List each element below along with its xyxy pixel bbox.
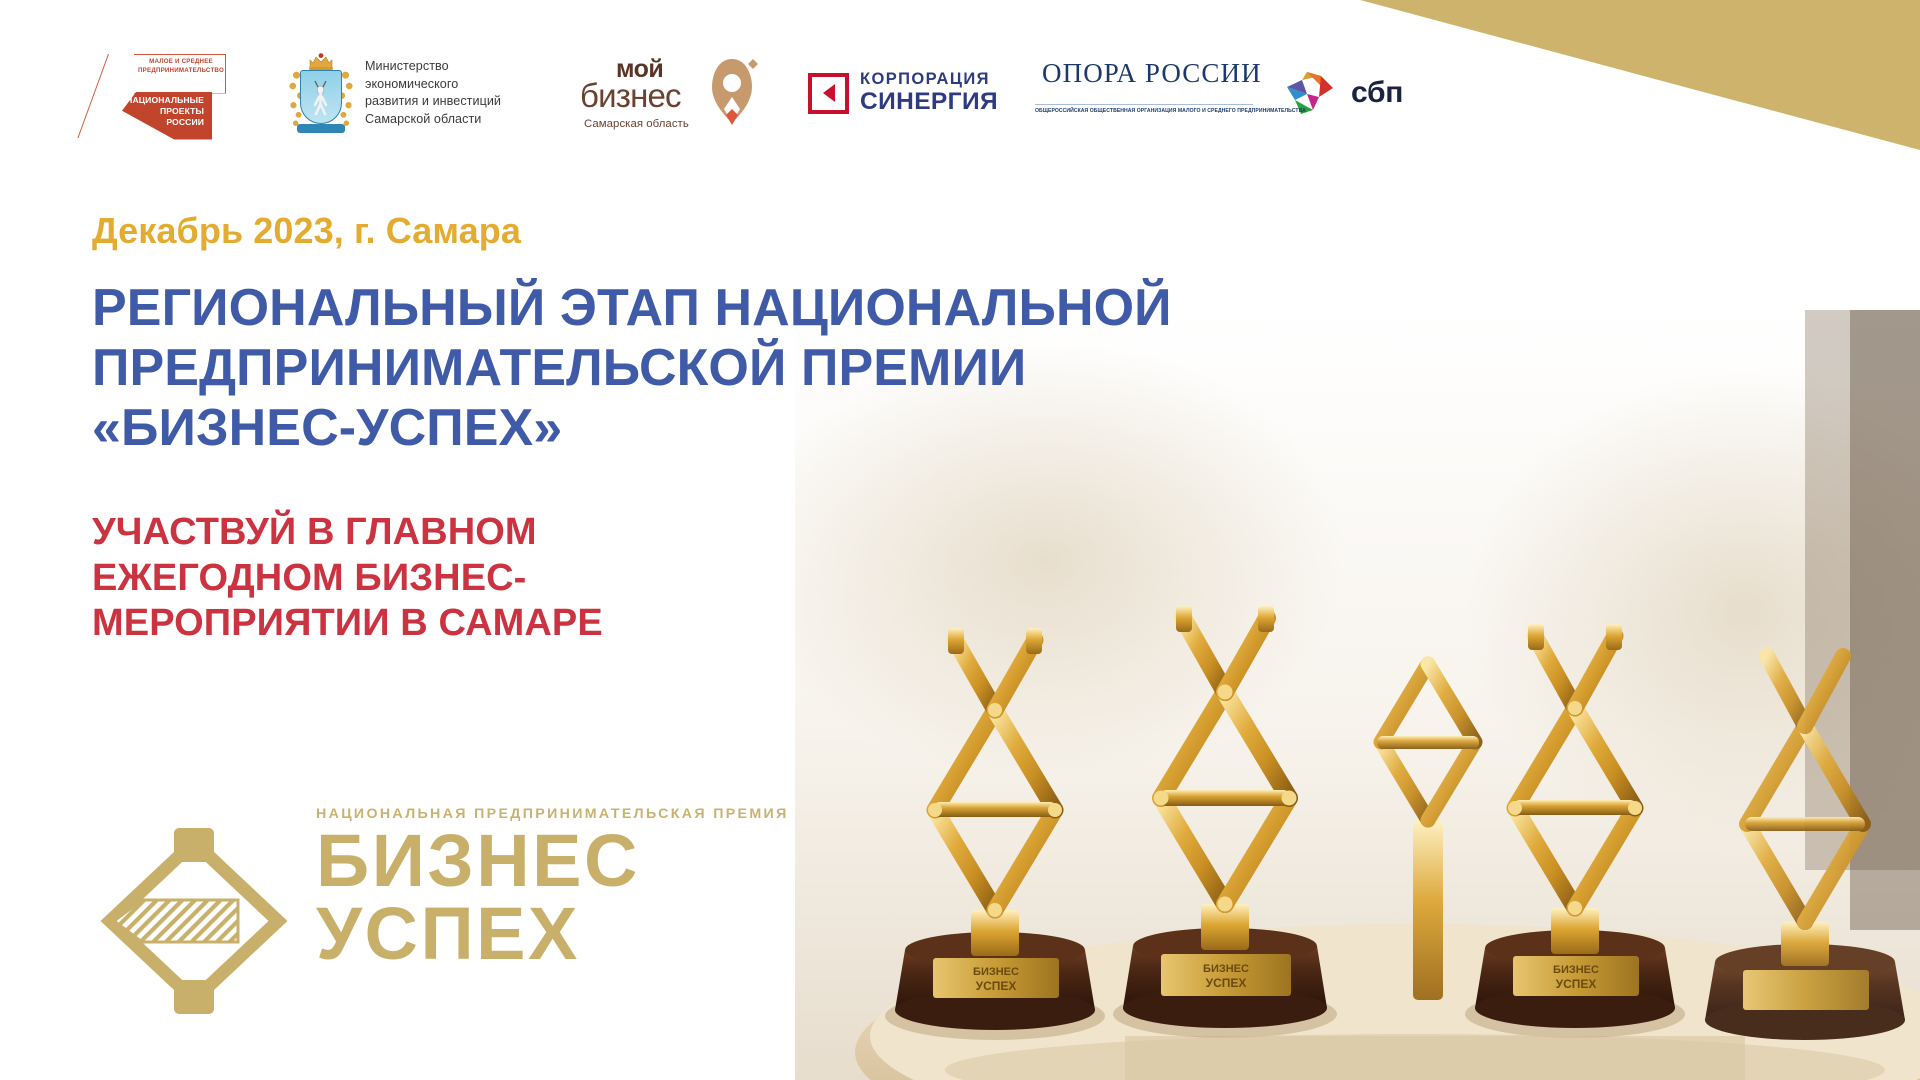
svg-text:УСПЕХ: УСПЕХ: [976, 979, 1017, 993]
logo-korporaciya-sinergiya: КОРПОРАЦИЯ СИНЕРГИЯ: [808, 43, 1033, 143]
logo-moy-biznes: мой бизнес Самарская область: [578, 43, 808, 143]
event-date-location: Декабрь 2023, г. Самара: [92, 210, 1322, 252]
moy-biznes-region: Самарская область: [584, 118, 689, 130]
ministry-label: Министерство экономического развития и и…: [365, 58, 501, 128]
svg-text:БИЗНЕС: БИЗНЕС: [973, 966, 1019, 978]
headline-line-1: РЕГИОНАЛЬНЫЙ ЭТАП НАЦИОНАЛЬНОЙ: [92, 278, 1322, 338]
event-subheading: УЧАСТВУЙ В ГЛАВНОМ ЕЖЕГОДНОМ БИЗНЕС- МЕР…: [92, 510, 1322, 647]
shield: [300, 70, 342, 124]
moy-biznes-pin-icon: [704, 53, 760, 127]
headline-line-2: ПРЕДПРИНИМАТЕЛЬСКОЙ ПРЕМИИ: [92, 338, 1322, 398]
opora-name: ОПОРА РОССИИ: [1042, 58, 1262, 89]
main-copy-block: Декабрь 2023, г. Самара РЕГИОНАЛЬНЫЙ ЭТА…: [92, 210, 1322, 647]
svg-text:УСПЕХ: УСПЕХ: [1206, 976, 1247, 990]
banner-canvas: БИЗНЕС УСПЕХ: [0, 0, 1920, 1080]
subhead-line-3: МЕРОПРИЯТИИ В САМАРЕ: [92, 601, 1322, 647]
brand-word-biznes: БИЗНЕС: [316, 826, 716, 896]
subhead-line-1: УЧАСТВУЙ В ГЛАВНОМ: [92, 510, 1322, 556]
national-projects-top-text: МАЛОЕ И СРЕДНЕЕ ПРЕДПРИНИМАТЕЛЬСТВО: [138, 57, 224, 76]
biznes-uspeh-brand-logo: НАЦИОНАЛЬНАЯ ПРЕДПРИНИМАТЕЛЬСКАЯ ПРЕМИЯ …: [88, 800, 728, 1030]
opora-fine-print: ОБЩЕРОССИЙСКАЯ ОБЩЕСТВЕННАЯ ОРГАНИЗАЦИЯ …: [1035, 104, 1253, 114]
synergy-line1: КОРПОРАЦИЯ: [860, 71, 998, 89]
event-headline: РЕГИОНАЛЬНЫЙ ЭТАП НАЦИОНАЛЬНОЙ ПРЕДПРИНИ…: [92, 278, 1322, 458]
svg-text:УСПЕХ: УСПЕХ: [1556, 977, 1597, 991]
samara-coat-of-arms-icon: [288, 51, 354, 135]
svg-text:БИЗНЕС: БИЗНЕС: [1203, 963, 1249, 975]
partner-logo-strip: МАЛОЕ И СРЕДНЕЕ ПРЕДПРИНИМАТЕЛЬСТВО НАЦИ…: [108, 38, 1528, 148]
national-projects-main-text: НАЦИОНАЛЬНЫЕ ПРОЕКТЫ РОССИИ: [122, 95, 210, 128]
headline-line-3: «БИЗНЕС-УСПЕХ»: [92, 398, 1322, 458]
logo-national-projects: МАЛОЕ И СРЕДНЕЕ ПРЕДПРИНИМАТЕЛЬСТВО НАЦИ…: [108, 43, 288, 143]
svg-text:БИЗНЕС: БИЗНЕС: [1553, 964, 1599, 976]
logo-ministry-economic-development: Министерство экономического развития и и…: [288, 43, 578, 143]
subhead-line-2: ЕЖЕГОДНОМ БИЗНЕС-: [92, 556, 1322, 602]
moy-biznes-line2: бизнес: [580, 77, 681, 115]
logo-sbp: сбп: [1283, 43, 1453, 143]
sbp-name: сбп: [1351, 76, 1403, 110]
brand-word-uspeh: УСПЕХ: [316, 898, 716, 969]
synergy-chevron-icon: [808, 73, 849, 114]
ribbon: [297, 124, 345, 133]
synergy-line2: СИНЕРГИЯ: [860, 89, 998, 115]
logo-opora-rossii: ОПОРА РОССИИ ОБЩЕРОССИЙСКАЯ ОБЩЕСТВЕННАЯ…: [1033, 43, 1283, 143]
brand-diamond-emblem-icon: [88, 826, 300, 1016]
